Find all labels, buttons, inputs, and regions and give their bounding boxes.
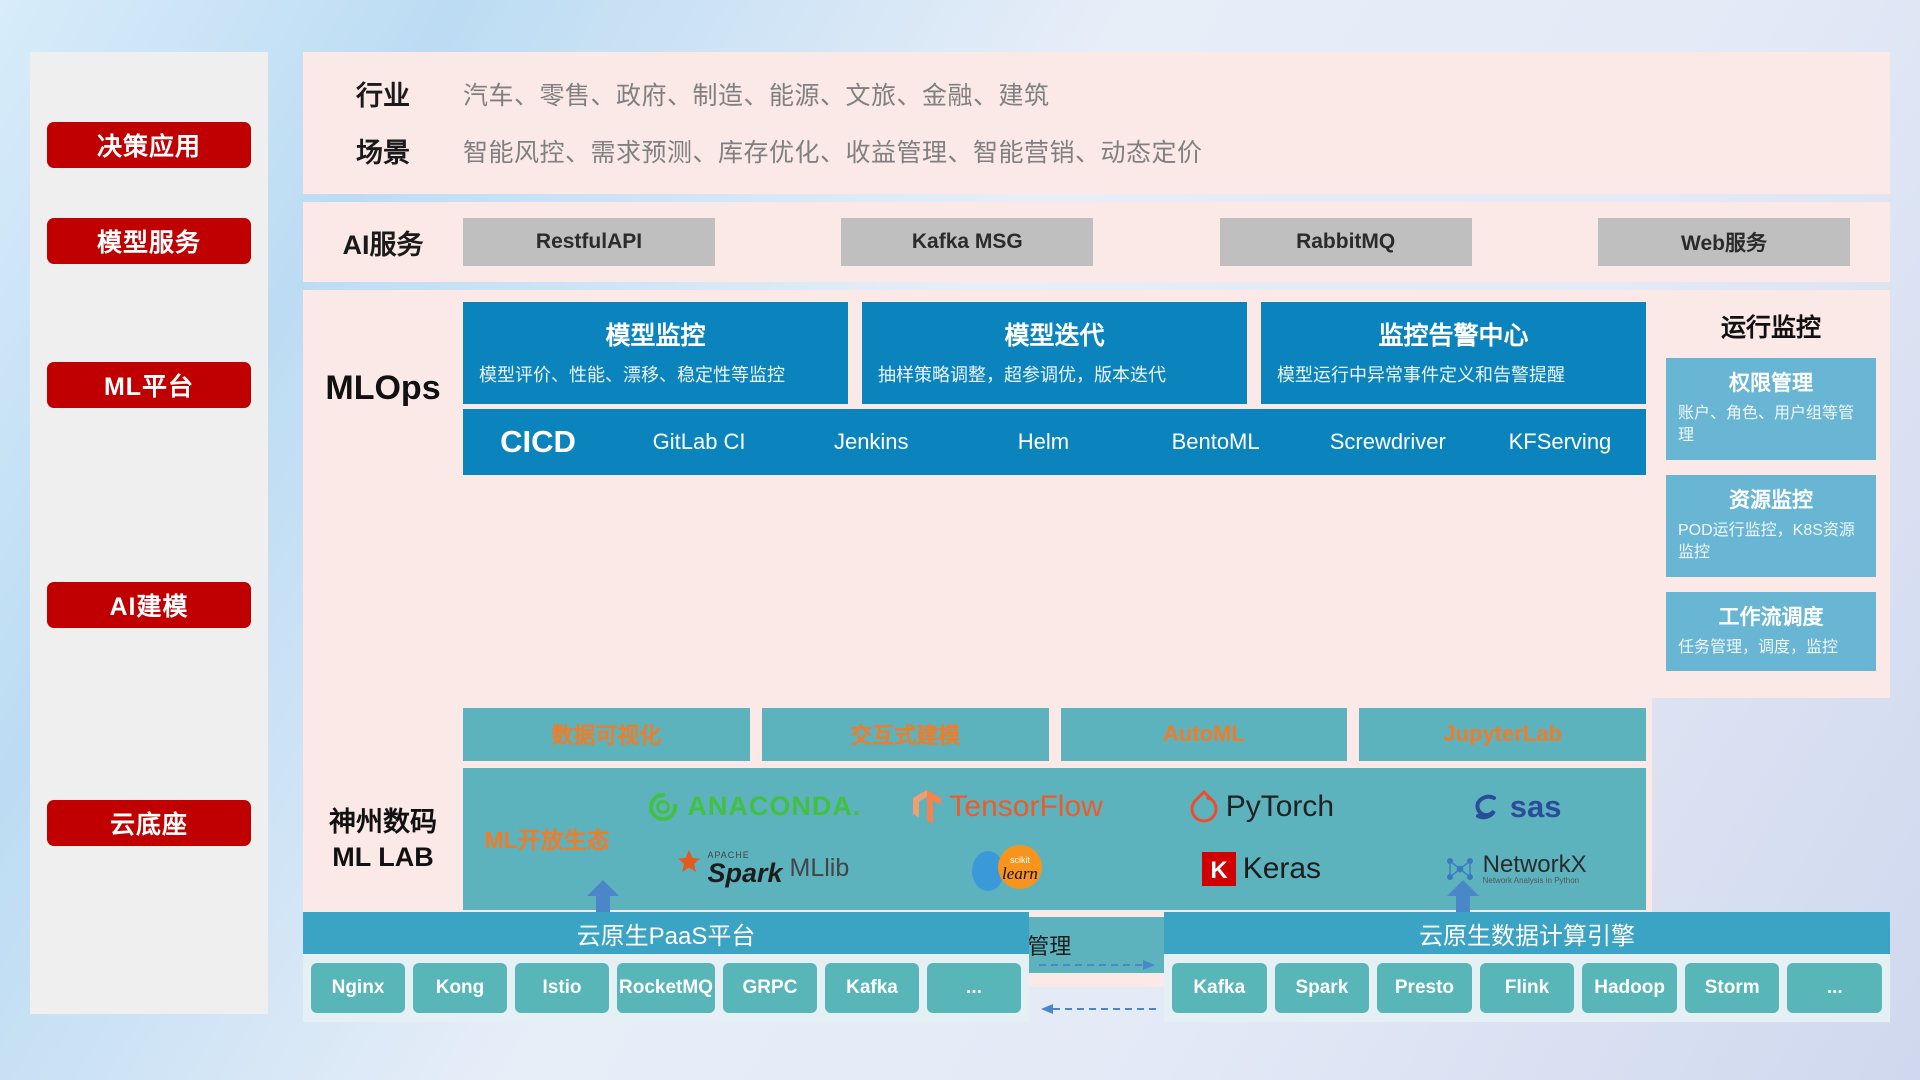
- cloud-data-engine-chip-list: Kafka Spark Presto Flink Hadoop Storm ..…: [1164, 954, 1890, 1022]
- scenario-value: 智能风控、需求预测、库存优化、收益管理、智能营销、动态定价: [463, 133, 1203, 169]
- cicd-tool-gitlab-ci[interactable]: GitLab CI: [613, 429, 785, 454]
- monitor-card-workflow[interactable]: 工作流调度 任务管理，调度，监控: [1666, 592, 1876, 671]
- monitor-card-resource[interactable]: 资源监控 POD运行监控，K8S资源监控: [1666, 475, 1876, 577]
- architecture-main: 行业 汽车、零售、政府、制造、能源、文旅、金融、建筑 场景 智能风控、需求预测、…: [303, 52, 1890, 987]
- ml-lab-tool-data-visualization[interactable]: 数据可视化: [463, 708, 750, 761]
- cloud-chip-rocketmq[interactable]: RocketMQ: [617, 963, 715, 1013]
- card-desc: 抽样策略调整，超参调优，版本迭代: [878, 362, 1231, 388]
- ml-ecosystem-label: ML开放生态: [467, 821, 627, 855]
- rail-chip-model-serve[interactable]: 模型服务: [47, 218, 251, 264]
- mlops-band: MLOps 模型监控 模型评价、性能、漂移、稳定性等监控 模型迭代 抽样策略调整…: [303, 290, 1652, 698]
- mlops-card-model-monitoring[interactable]: 模型监控 模型评价、性能、漂移、稳定性等监控: [463, 302, 848, 404]
- mlops-card-list: 模型监控 模型评价、性能、漂移、稳定性等监控 模型迭代 抽样策略调整，超参调优，…: [463, 302, 1646, 404]
- cicd-label: CICD: [463, 424, 613, 460]
- scenario-label: 场景: [303, 131, 463, 170]
- tensorflow-logo-text: TensorFlow: [949, 790, 1102, 824]
- sas-mark-icon: [1469, 790, 1503, 824]
- scenario-row: 场景 智能风控、需求预测、库存优化、收益管理、智能营销、动态定价: [303, 131, 1890, 170]
- cloud-data-engine-group: 云原生数据计算引擎 Kafka Spark Presto Flink Hadoo…: [1164, 912, 1890, 1022]
- anaconda-mark-icon: [646, 790, 680, 824]
- rail-chip-decision[interactable]: 决策应用: [47, 122, 251, 168]
- ai-service-chip-web[interactable]: Web服务: [1598, 218, 1850, 266]
- mlops-row: MLOps 模型监控 模型评价、性能、漂移、稳定性等监控 模型迭代 抽样策略调整…: [303, 290, 1890, 698]
- ml-lab-tool-jupyterlab[interactable]: JupyterLab: [1359, 708, 1646, 761]
- tensorflow-logo: TensorFlow: [912, 788, 1102, 826]
- card-title: 工作流调度: [1678, 601, 1864, 631]
- rail-chip-ml-platform[interactable]: ML平台: [47, 362, 251, 408]
- cicd-tool-jenkins[interactable]: Jenkins: [785, 429, 957, 454]
- card-title: 模型迭代: [878, 316, 1231, 352]
- ml-lab-tool-interactive-modeling[interactable]: 交互式建模: [762, 708, 1049, 761]
- cloud-chip-storm[interactable]: Storm: [1685, 963, 1780, 1013]
- ai-service-list: RestfulAPI Kafka MSG RabbitMQ Web服务: [463, 218, 1890, 266]
- card-desc: 模型运行中异常事件定义和告警提醒: [1277, 362, 1630, 388]
- ai-service-chip-kafka-msg[interactable]: Kafka MSG: [841, 218, 1093, 266]
- cloud-chip-more-2[interactable]: ...: [1787, 963, 1882, 1013]
- card-desc: 账户、角色、用户组等管理: [1678, 403, 1864, 448]
- runtime-monitor-panel: 运行监控 权限管理 账户、角色、用户组等管理 资源监控 POD运行监控，K8S资…: [1652, 290, 1890, 698]
- cloud-chip-istio[interactable]: Istio: [515, 963, 609, 1013]
- card-desc: 模型评价、性能、漂移、稳定性等监控: [479, 362, 832, 388]
- cloud-chip-nginx[interactable]: Nginx: [311, 963, 405, 1013]
- ai-service-chip-restfulapi[interactable]: RestfulAPI: [463, 218, 715, 266]
- card-desc: POD运行监控，K8S资源监控: [1678, 520, 1864, 565]
- rail-chip-ai-modeling[interactable]: AI建模: [47, 582, 251, 628]
- cloud-paas-group: 云原生PaaS平台 Nginx Kong Istio RocketMQ GRPC…: [303, 912, 1029, 1022]
- anaconda-logo: ANACONDA.: [646, 790, 861, 824]
- ai-service-band: AI服务 RestfulAPI Kafka MSG RabbitMQ Web服务: [303, 202, 1890, 282]
- cicd-bar: CICD GitLab CI Jenkins Helm BentoML Scre…: [463, 409, 1646, 475]
- industry-scenario-band: 行业 汽车、零售、政府、制造、能源、文旅、金融、建筑 场景 智能风控、需求预测、…: [303, 52, 1890, 194]
- cloud-chip-kong[interactable]: Kong: [413, 963, 507, 1013]
- ai-service-label: AI服务: [303, 223, 463, 262]
- cicd-tool-helm[interactable]: Helm: [957, 429, 1129, 454]
- card-title: 模型监控: [479, 316, 832, 352]
- card-title: 资源监控: [1678, 484, 1864, 514]
- ml-lab-tool-list: 数据可视化 交互式建模 AutoML JupyterLab: [463, 708, 1646, 761]
- cloud-paas-title: 云原生PaaS平台: [303, 912, 1029, 954]
- industry-label: 行业: [303, 74, 463, 113]
- stack-layer-rail: 决策应用 模型服务 ML平台 AI建模 云底座: [30, 52, 268, 1014]
- cloud-chip-hadoop[interactable]: Hadoop: [1582, 963, 1677, 1013]
- mlops-label: MLOps: [303, 302, 463, 475]
- anaconda-logo-text: ANACONDA.: [687, 791, 861, 822]
- rail-chip-cloud-base[interactable]: 云底座: [47, 800, 251, 846]
- ml-lab-label-line2: ML LAB: [332, 842, 434, 872]
- tensorflow-mark-icon: [912, 788, 942, 826]
- cicd-tool-screwdriver[interactable]: Screwdriver: [1302, 429, 1474, 454]
- cicd-tool-kfserving[interactable]: KFServing: [1474, 429, 1646, 454]
- pytorch-logo-text: PyTorch: [1226, 790, 1334, 824]
- ai-service-chip-rabbitmq[interactable]: RabbitMQ: [1220, 218, 1472, 266]
- card-desc: 任务管理，调度，监控: [1678, 637, 1864, 659]
- cloud-chip-kafka[interactable]: Kafka: [825, 963, 919, 1013]
- runtime-monitor-title: 运行监控: [1666, 308, 1876, 344]
- up-arrow-icon-left: [583, 880, 623, 916]
- cloud-data-engine-title: 云原生数据计算引擎: [1164, 912, 1890, 954]
- cloud-chip-kafka-2[interactable]: Kafka: [1172, 963, 1267, 1013]
- card-title: 权限管理: [1678, 367, 1864, 397]
- industry-value: 汽车、零售、政府、制造、能源、文旅、金融、建筑: [463, 76, 1050, 112]
- dashed-arrow-left-icon: [1039, 1002, 1157, 1016]
- pytorch-logo: PyTorch: [1189, 790, 1334, 824]
- dashed-arrow-right-icon: [1039, 958, 1157, 972]
- sas-logo-text: sas: [1510, 789, 1562, 825]
- cicd-tool-list: GitLab CI Jenkins Helm BentoML Screwdriv…: [613, 429, 1646, 454]
- up-arrow-icon-right: [1443, 880, 1483, 916]
- pytorch-mark-icon: [1189, 790, 1219, 824]
- mlops-card-model-iteration[interactable]: 模型迭代 抽样策略调整，超参调优，版本迭代: [862, 302, 1247, 404]
- cloud-chip-spark[interactable]: Spark: [1275, 963, 1370, 1013]
- card-title: 监控告警中心: [1277, 316, 1630, 352]
- cloud-paas-chip-list: Nginx Kong Istio RocketMQ GRPC Kafka ...: [303, 954, 1029, 1022]
- networkx-logo-text: NetworkX: [1483, 852, 1587, 877]
- cloud-foundation-row: 云原生PaaS平台 Nginx Kong Istio RocketMQ GRPC…: [303, 880, 1890, 1045]
- cloud-chip-flink[interactable]: Flink: [1480, 963, 1575, 1013]
- industry-row: 行业 汽车、零售、政府、制造、能源、文旅、金融、建筑: [303, 74, 1890, 113]
- sas-logo: sas: [1469, 789, 1562, 825]
- mlops-card-alert-center[interactable]: 监控告警中心 模型运行中异常事件定义和告警提醒: [1261, 302, 1646, 404]
- cloud-chip-presto[interactable]: Presto: [1377, 963, 1472, 1013]
- ml-lab-tool-automl[interactable]: AutoML: [1061, 708, 1348, 761]
- monitor-card-permission[interactable]: 权限管理 账户、角色、用户组等管理: [1666, 358, 1876, 460]
- cloud-chip-grpc[interactable]: GRPC: [723, 963, 817, 1013]
- ml-lab-label-line1: 神州数码: [329, 807, 437, 837]
- cloud-chip-more[interactable]: ...: [927, 963, 1021, 1013]
- cicd-tool-bentoml[interactable]: BentoML: [1130, 429, 1302, 454]
